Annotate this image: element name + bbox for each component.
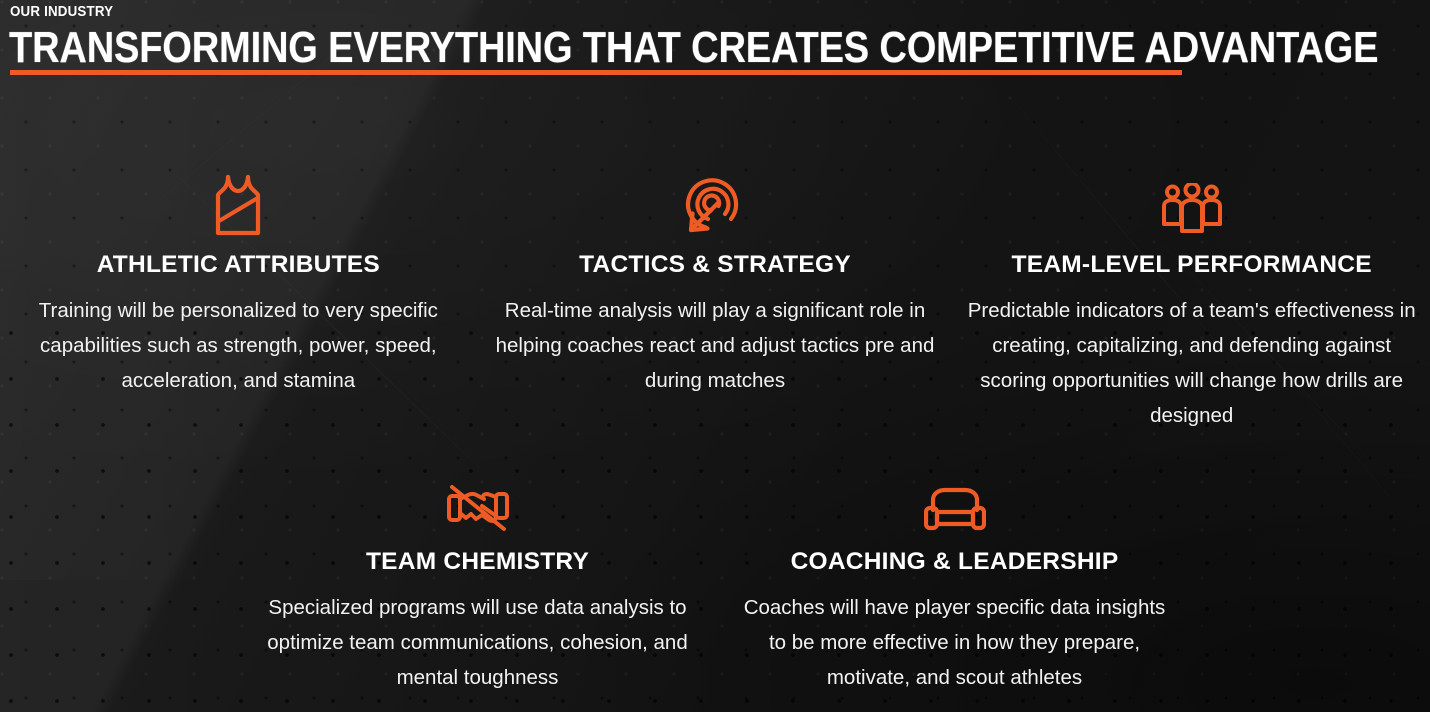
feature-card-body: Training will be personalized to very sp… bbox=[14, 293, 463, 398]
feature-card-athletic-attributes: ATHLETIC ATTRIBUTES Training will be per… bbox=[0, 175, 477, 433]
tank-top-icon bbox=[14, 175, 463, 237]
feature-card-coaching-leadership: COACHING & LEADERSHIP Coaches will have … bbox=[716, 472, 1193, 695]
feature-card-title: TACTICS & STRATEGY bbox=[491, 251, 940, 279]
our-industry-section: OUR INDUSTRY TRANSFORMING EVERYTHING THA… bbox=[0, 0, 1430, 712]
title-underline-rule bbox=[10, 70, 1182, 75]
row-spacer-right bbox=[1193, 472, 1430, 695]
feature-row-bottom: TEAM CHEMISTRY Specialized programs will… bbox=[0, 472, 1430, 695]
handshake-slash-icon bbox=[253, 472, 702, 534]
feature-row-top: ATHLETIC ATTRIBUTES Training will be per… bbox=[0, 175, 1430, 433]
feature-card-team-level-performance: TEAM-LEVEL PERFORMANCE Predictable indic… bbox=[953, 175, 1430, 433]
feature-card-title: ATHLETIC ATTRIBUTES bbox=[14, 251, 463, 279]
row-spacer-left bbox=[0, 472, 239, 695]
target-arrow-icon bbox=[491, 175, 940, 237]
feature-card-tactics-strategy: TACTICS & STRATEGY Real-time analysis wi… bbox=[477, 175, 954, 433]
feature-card-title: TEAM-LEVEL PERFORMANCE bbox=[967, 251, 1416, 279]
page-title: TRANSFORMING EVERYTHING THAT CREATES COM… bbox=[9, 26, 1378, 70]
bench-icon bbox=[730, 472, 1179, 534]
feature-card-title: TEAM CHEMISTRY bbox=[253, 548, 702, 576]
feature-card-body: Predictable indicators of a team's effec… bbox=[967, 293, 1416, 433]
feature-card-body: Coaches will have player specific data i… bbox=[740, 590, 1170, 695]
feature-card-body: Real-time analysis will play a significa… bbox=[491, 293, 940, 398]
section-eyebrow: OUR INDUSTRY bbox=[10, 4, 113, 20]
feature-card-title: COACHING & LEADERSHIP bbox=[730, 548, 1179, 576]
feature-card-team-chemistry: TEAM CHEMISTRY Specialized programs will… bbox=[239, 472, 716, 695]
people-group-icon bbox=[967, 175, 1416, 237]
feature-card-body: Specialized programs will use data analy… bbox=[263, 590, 693, 695]
